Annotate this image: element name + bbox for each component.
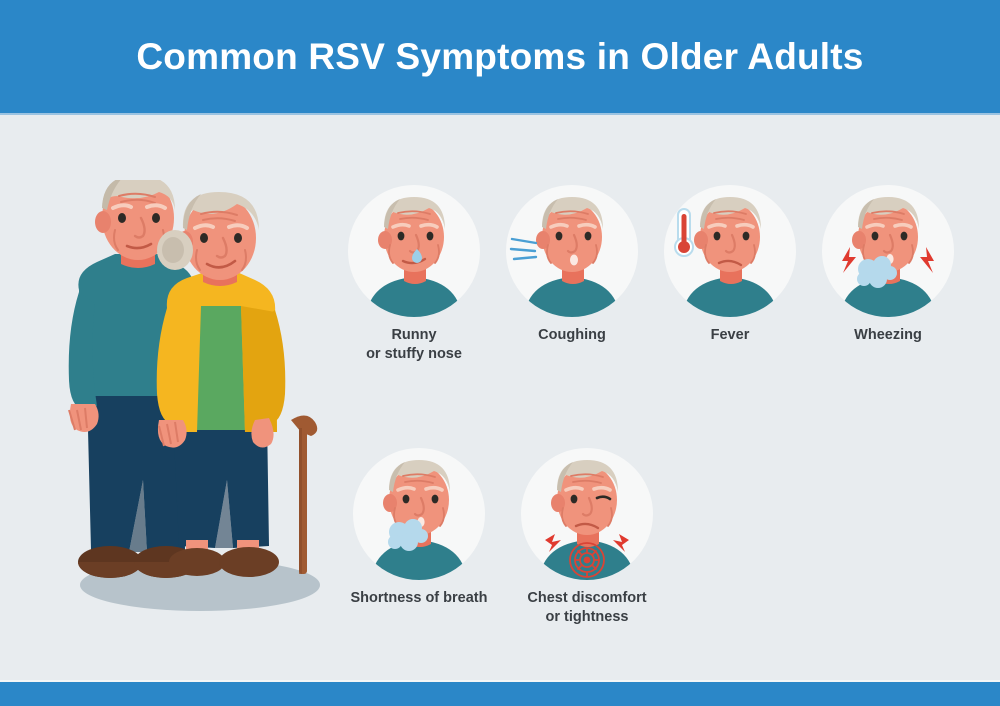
symptom-label: Runny or stuffy nose [340,326,488,363]
symptom-card-fever[interactable]: Fever [656,185,804,345]
symptom-card-shortness-of-breath[interactable]: Shortness of breath [334,448,504,608]
cough-motion-lines [511,239,536,259]
symptom-card-chest-discomfort[interactable]: Chest discomfort or tightness [502,448,672,626]
face-runny-nose-icon [348,185,480,317]
page-title: Common RSV Symptoms in Older Adults [136,36,863,78]
symptom-label: Fever [656,326,804,345]
header-bar: Common RSV Symptoms in Older Adults [0,0,1000,113]
face-wheezing-icon [822,185,954,317]
symptom-label: Shortness of breath [334,589,504,608]
footer-bar [0,682,1000,706]
face-shortness-of-breath-icon [353,448,485,580]
symptom-card-wheezing[interactable]: Wheezing [814,185,962,345]
symptom-label: Chest discomfort or tightness [502,589,672,626]
symptoms-grid: Runny or stuffy nose [340,185,990,635]
infographic-page: Common RSV Symptoms in Older Adults [0,0,1000,706]
chest-pain-target [570,543,604,577]
walking-cane [291,415,317,574]
face-fever-thermometer-icon [664,185,796,317]
face-chest-discomfort-icon [521,448,653,580]
symptom-card-coughing[interactable]: Coughing [498,185,646,345]
open-mouth [570,255,578,266]
symptom-label: Wheezing [814,326,962,345]
face-coughing-icon [506,185,638,317]
symptom-label: Coughing [498,326,646,345]
elderly-couple-illustration [55,180,355,620]
symptom-card-runny-nose[interactable]: Runny or stuffy nose [340,185,488,363]
thermometer-icon [675,209,693,256]
header-divider [0,113,1000,115]
